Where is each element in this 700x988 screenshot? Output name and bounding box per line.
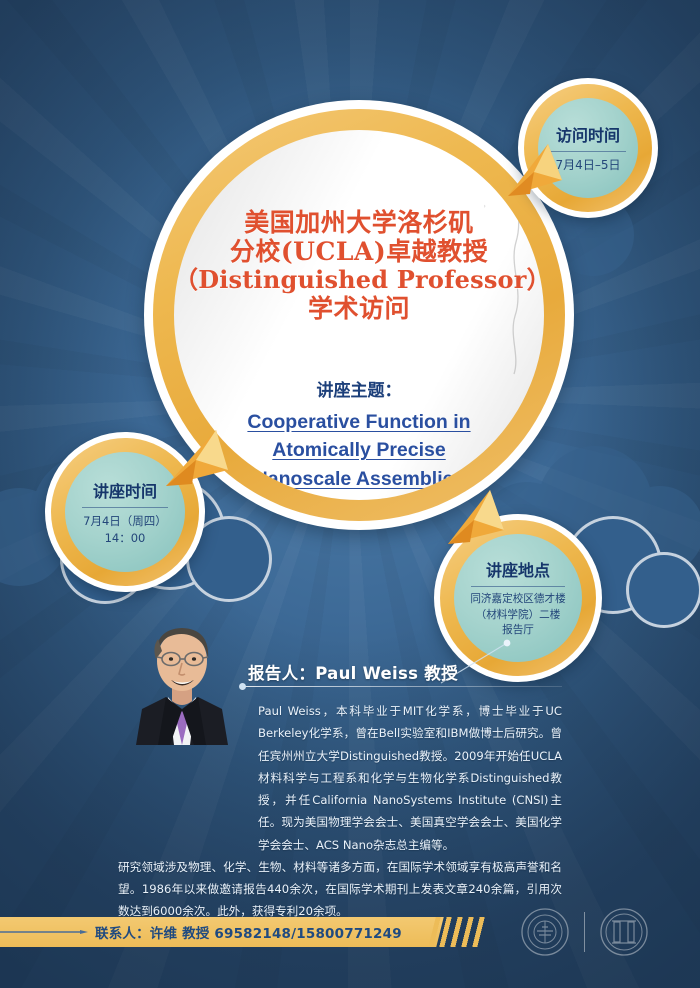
title-line-2: 分校(UCLA)卓越教授 <box>174 237 544 266</box>
speaker-bio: Paul Weiss，本科毕业于MIT化学系，博士毕业于UC Berkeley化… <box>118 700 562 923</box>
badge-title: 讲座地点 <box>486 557 550 581</box>
title-line-3: （Distinguished Professor） <box>174 266 544 294</box>
topic-label: 讲座主题： <box>208 376 510 401</box>
speaker-name: 报告人：Paul Weiss 教授 <box>248 664 458 683</box>
badge-sub-2: 14：00 <box>105 530 146 547</box>
badge-sub-2: （材料学院）二楼 <box>476 608 561 623</box>
seal-divider <box>584 912 585 952</box>
speaker-divider <box>244 686 562 687</box>
badge-divider <box>471 586 565 587</box>
topic-line-1: Cooperative Function in <box>208 408 510 436</box>
tongji-university-seal <box>520 907 570 957</box>
topic-line-2: Atomically Precise <box>208 436 510 464</box>
badge-divider <box>82 507 168 508</box>
badge-title: 讲座时间 <box>93 478 157 502</box>
badge-sub-1: 同济嘉定校区德才楼 <box>470 592 565 607</box>
poster-root: 美国加州大学洛杉矶 分校(UCLA)卓越教授 （Distinguished Pr… <box>0 0 700 988</box>
ribbon-fold-icon <box>500 140 570 210</box>
contact-banner-stripes <box>428 917 487 947</box>
badge-sub-1: 7月4日（周四） <box>83 513 167 530</box>
ucla-seal <box>599 907 649 957</box>
title-line-4: 学术访问 <box>174 294 544 323</box>
title-line-1: 美国加州大学洛杉矶 <box>174 208 544 237</box>
speaker-name-line: 报告人：Paul Weiss 教授 <box>248 660 578 684</box>
bio-paragraph-2: 研究领域涉及物理、化学、生物、材料等诸多方面，在国际学术领域享有极高声誉和名望。… <box>118 856 562 923</box>
ribbon-fold-icon <box>436 486 510 560</box>
ribbon-fold-icon <box>156 424 234 502</box>
bio-paragraph-1: Paul Weiss，本科毕业于MIT化学系，博士毕业于UC Berkeley化… <box>118 700 562 856</box>
page-title: 美国加州大学洛杉矶 分校(UCLA)卓越教授 （Distinguished Pr… <box>174 208 544 323</box>
arrow-right-icon <box>0 930 88 934</box>
lecture-topic-block: 讲座主题： Cooperative Function in Atomically… <box>208 376 510 493</box>
badge-sub-3: 报告厅 <box>502 623 534 638</box>
university-seals <box>520 903 670 961</box>
contact-text: 联系人：许维 教授 69582148/15800771249 <box>95 922 402 942</box>
